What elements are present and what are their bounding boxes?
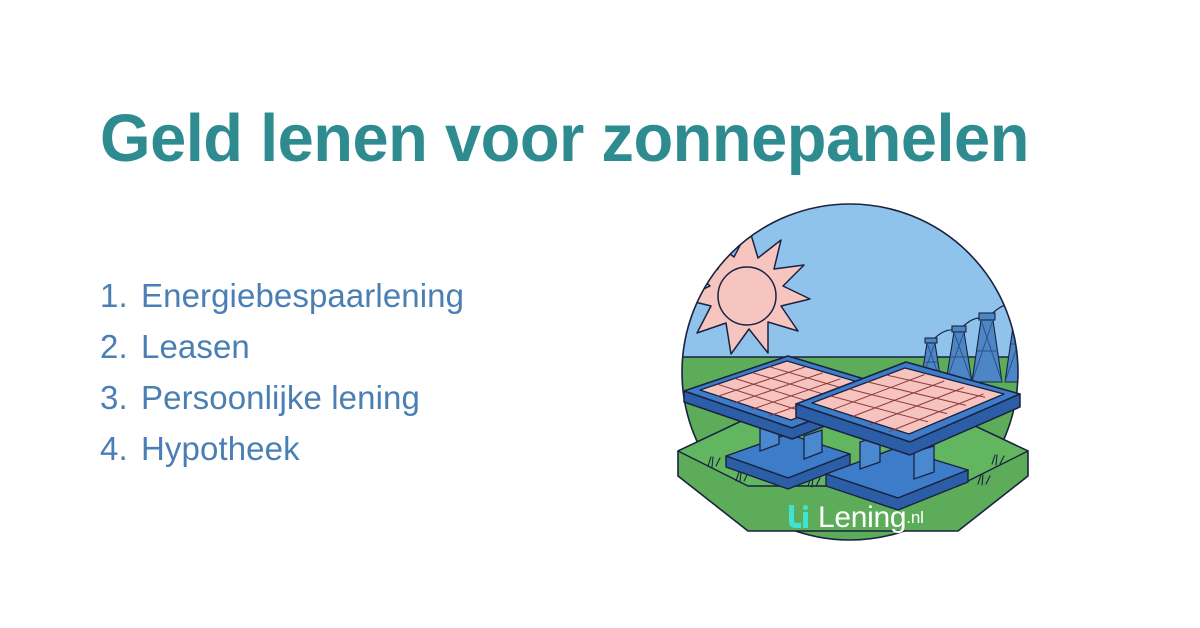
list-item-label: Leasen bbox=[141, 321, 620, 372]
lening-nl-logo[interactable]: Lening .nl bbox=[786, 498, 924, 538]
list-item-number: 4. bbox=[100, 423, 141, 474]
list-item: 4. Hypotheek bbox=[100, 423, 620, 474]
list-item-number: 1. bbox=[100, 270, 141, 321]
promo-card: Geld lenen voor zonnepanelen 1. Energieb… bbox=[0, 0, 1200, 628]
list-item: 1. Energiebespaarlening bbox=[100, 270, 620, 321]
list-item: 2. Leasen bbox=[100, 321, 620, 372]
pylon bbox=[1005, 298, 1042, 382]
page-title: Geld lenen voor zonnepanelen bbox=[100, 99, 1089, 179]
lening-logo-mark-icon bbox=[786, 503, 812, 533]
list-item-number: 2. bbox=[100, 321, 141, 372]
logo-wordmark: Lening bbox=[818, 503, 906, 533]
list-item-label: Persoonlijke lening bbox=[141, 372, 620, 423]
list-item-label: Energiebespaarlening bbox=[141, 270, 620, 321]
list-item-number: 3. bbox=[100, 372, 141, 423]
financing-options-list: 1. Energiebespaarlening 2. Leasen 3. Per… bbox=[100, 270, 620, 474]
logo-tld: .nl bbox=[906, 508, 923, 528]
list-item: 3. Persoonlijke lening bbox=[100, 372, 620, 423]
list-item-label: Hypotheek bbox=[141, 423, 620, 474]
